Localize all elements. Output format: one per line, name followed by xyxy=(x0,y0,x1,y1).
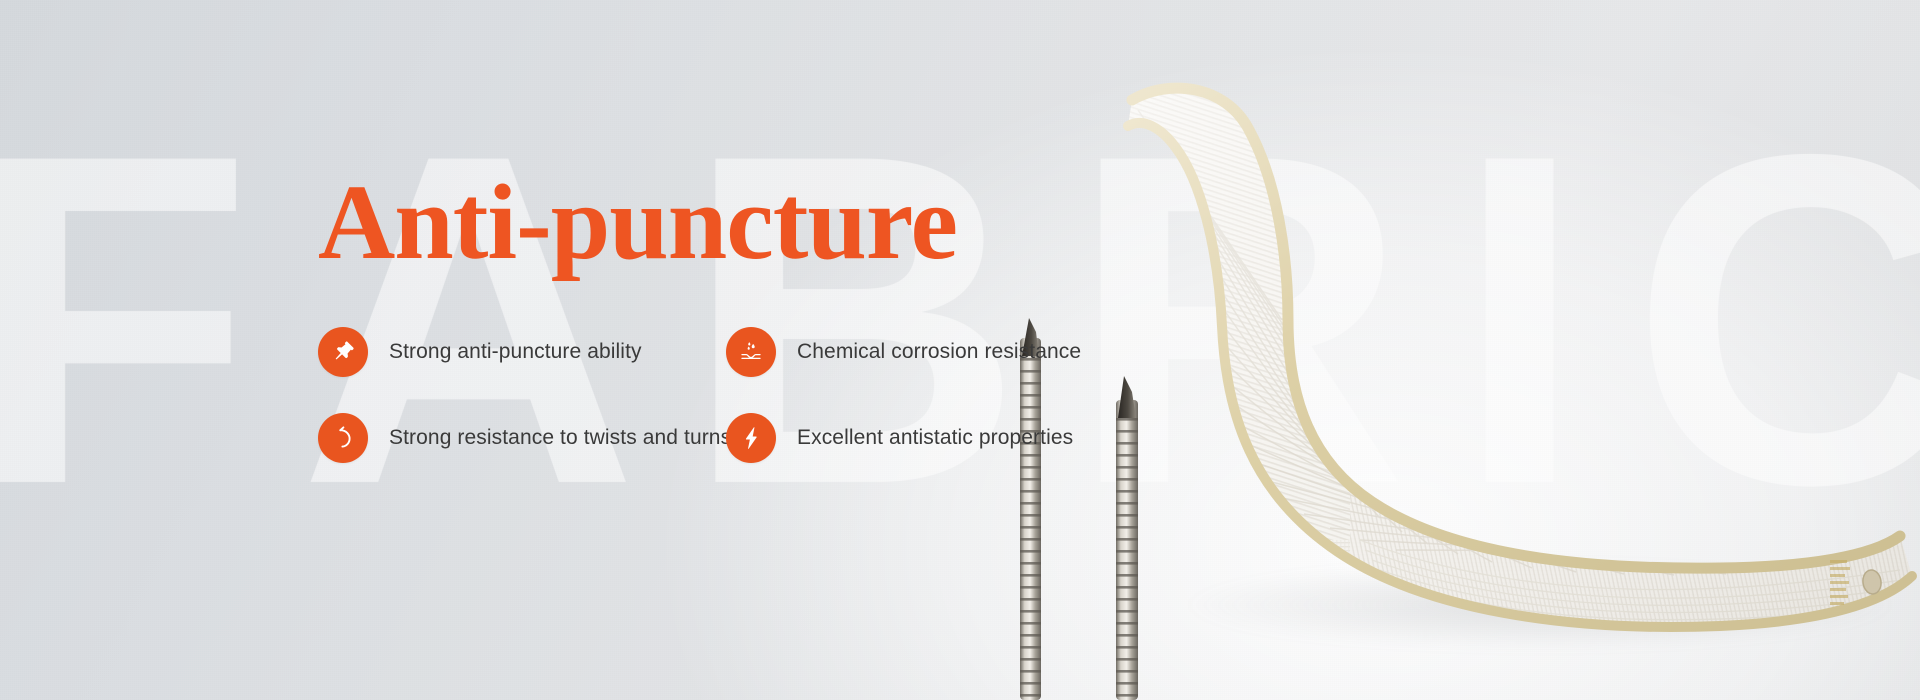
feature-label: Strong anti-puncture ability xyxy=(389,340,642,364)
watermark-letter-r: R xyxy=(1069,85,1414,555)
watermark-letter-c: C xyxy=(1631,85,1920,555)
product-shadow xyxy=(1180,560,1900,650)
feature-label: Excellent antistatic properties xyxy=(797,426,1073,450)
product-image-anti-puncture-midsole xyxy=(1020,70,1920,700)
product-marking xyxy=(1830,560,1850,605)
page-title: Anti-puncture xyxy=(318,170,1078,277)
feature-item-twist-resistance: Strong resistance to twists and turns xyxy=(318,413,726,463)
pushpin-icon xyxy=(318,327,368,377)
chemical-corrosion-icon xyxy=(726,327,776,377)
feature-item-chemical-corrosion: Chemical corrosion resistance xyxy=(726,327,1081,377)
nail-right xyxy=(1116,376,1138,700)
feature-list: Strong anti-puncture ability Chemical co… xyxy=(318,327,1078,463)
feature-item-anti-puncture: Strong anti-puncture ability xyxy=(318,327,726,377)
product-eyelet-hole xyxy=(1861,569,1882,595)
twist-rotation-icon xyxy=(318,413,368,463)
copy-block: Anti-puncture Strong anti-puncture abili… xyxy=(318,170,1078,463)
watermark-letter-f: F xyxy=(0,85,259,555)
lightning-bolt-icon xyxy=(726,413,776,463)
watermark-letter-i: I xyxy=(1454,85,1591,555)
feature-label: Strong resistance to twists and turns xyxy=(389,426,731,450)
feature-label: Chemical corrosion resistance xyxy=(797,340,1081,364)
midsole-body xyxy=(1110,80,1920,650)
feature-item-antistatic: Excellent antistatic properties xyxy=(726,413,1081,463)
banner-root: F A B R I C xyxy=(0,0,1920,700)
